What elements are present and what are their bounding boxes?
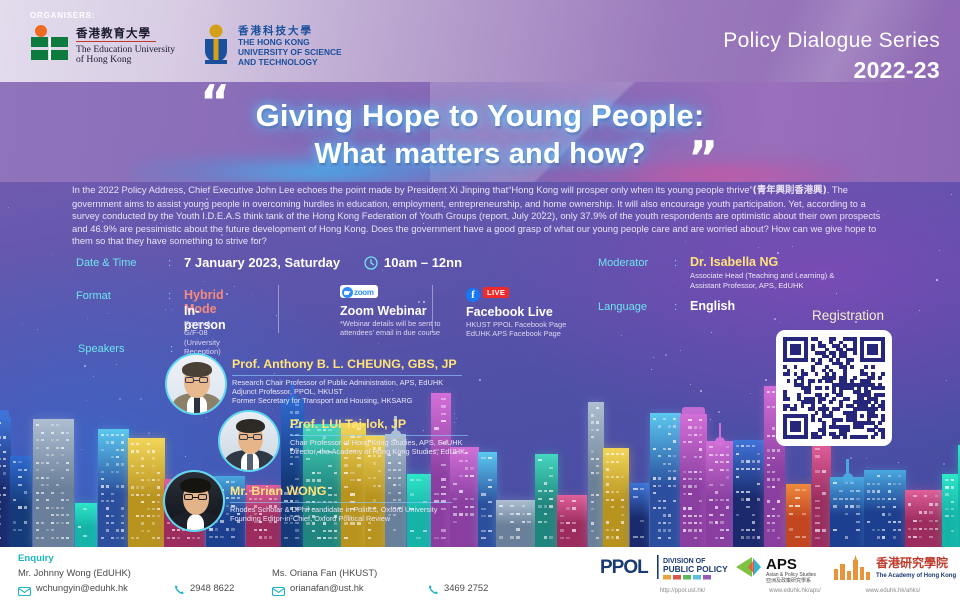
organisers-label: ORGANISERS: xyxy=(30,11,95,20)
speaker-3-avatar xyxy=(163,470,225,532)
speaker-2-desc-line1: Chair Professor of Hong Kong Studies, AP… xyxy=(290,438,463,447)
svg-text:The Academy of Hong Kong Studi: The Academy of Hong Kong Studies xyxy=(876,573,956,579)
main-title-line2: What matters and how? xyxy=(0,138,960,171)
footer-bar: Enquiry Mr. Johnny Wong (EdUHK) wchungyi… xyxy=(0,547,960,600)
moderator-name: Dr. Isabella NG xyxy=(690,255,778,269)
language-label: Language xyxy=(598,301,670,313)
abstract-chinese: (青年興則香港興) xyxy=(753,185,827,196)
speakers-label: Speakers xyxy=(78,343,124,355)
svg-text:香港研究學院: 香港研究學院 xyxy=(875,555,948,570)
speaker-1-rule xyxy=(232,375,462,376)
svg-text:APS: APS xyxy=(766,556,797,573)
zoom-note: *Webinar details will be sent to attende… xyxy=(340,319,441,337)
svg-text:of Hong Kong: of Hong Kong xyxy=(76,54,132,65)
svg-text:PPOL: PPOL xyxy=(600,557,649,578)
venue-line1: Room A-G/F-08 (University Reception) xyxy=(184,319,222,357)
moderator-affiliation: Associate Head (Teaching and Learning) &… xyxy=(690,271,834,290)
format-divider-1 xyxy=(278,285,279,333)
speaker-2-avatar xyxy=(218,410,280,472)
language-colon: : xyxy=(674,301,677,313)
svg-text:PUBLIC POLICY: PUBLIC POLICY xyxy=(663,564,728,574)
contact-1-name: Mr. Johnny Wong (EdUHK) xyxy=(18,567,131,578)
facebook-title: Facebook Live xyxy=(466,305,566,319)
envelope-icon xyxy=(18,583,31,592)
phone-icon xyxy=(174,582,185,593)
main-title-line1: Giving Hope to Young People: xyxy=(0,98,960,134)
datetime-label: Date & Time xyxy=(76,257,164,269)
facebook-note: HKUST PPOL Facebook Page EdUHK APS Faceb… xyxy=(466,320,566,338)
poster-root: ORGANISERS: 香港教育大學 The Education Univers… xyxy=(0,0,960,600)
enquiry-title: Enquiry xyxy=(18,553,54,564)
format-label: Format xyxy=(76,290,164,302)
contact-1-phone: 2948 8622 xyxy=(190,582,234,593)
speaker-3-name: Mr. Brian WONG xyxy=(230,484,326,498)
speaker-3-desc-line1: Rhodes Scholar & DPhil candidate in Poli… xyxy=(230,505,437,514)
speaker-1-desc-line2: Adjunct Professor, PPOL, HKUST xyxy=(232,387,343,396)
speaker-2-desc-line2: Director, the Academy of Hong Kong Studi… xyxy=(290,447,465,456)
phone-icon xyxy=(428,582,439,593)
facebook-icon: f xyxy=(466,288,480,302)
zoom-note-line2: attendees' email in due course xyxy=(340,328,441,337)
closing-quote-mark: ” xyxy=(688,140,718,177)
series-year: 2022-23 xyxy=(853,57,940,84)
registration-qr-code[interactable] xyxy=(776,330,892,446)
format-colon: : xyxy=(168,290,171,302)
zoom-note-line1: *Webinar details will be sent to xyxy=(340,319,441,328)
datetime-colon: : xyxy=(168,257,171,269)
registration-label: Registration xyxy=(788,308,908,323)
facebook-logo-row: fLIVE xyxy=(466,283,566,302)
eduhk-logo: 香港教育大學 The Education University of Hong … xyxy=(28,24,203,66)
speaker-1-avatar xyxy=(165,353,227,415)
moderator-affiliation-line2: Assistant Professor, APS, EdUHK xyxy=(690,281,834,291)
speakers-colon: : xyxy=(170,343,173,355)
speaker-1-desc-line3: Former Secretary for Transport and Housi… xyxy=(232,396,412,405)
contact-2-phone: 3469 2752 xyxy=(444,582,488,593)
contact-2-name: Ms. Oriana Fan (HKUST) xyxy=(272,567,377,578)
speaker-1-desc-line1: Research Chair Professor of Public Admin… xyxy=(232,378,443,387)
abstract-part1: In the 2022 Policy Address, Chief Execut… xyxy=(72,184,753,195)
main-title: Giving Hope to Young People: What matter… xyxy=(0,98,960,171)
svg-text:香港教育大學: 香港教育大學 xyxy=(75,26,151,40)
zoom-webinar-block: zoom Zoom Webinar *Webinar details will … xyxy=(340,283,441,337)
speaker-3-desc-line2: Founding Editor-in-Chief, Oxford Politic… xyxy=(230,514,390,523)
speaker-3-rule xyxy=(230,502,452,503)
facebook-note-line1: HKUST PPOL Facebook Page xyxy=(466,320,566,329)
ahks-url[interactable]: www.eduhk.hk/ahks/ xyxy=(830,588,956,594)
moderator-affiliation-line1: Associate Head (Teaching and Learning) & xyxy=(690,271,834,281)
zoom-title: Zoom Webinar xyxy=(340,304,441,318)
moderator-colon: : xyxy=(674,257,677,269)
contact-1-email[interactable]: wchungyin@eduhk.hk xyxy=(36,582,128,593)
moderator-label: Moderator xyxy=(598,257,670,269)
speaker-2-rule xyxy=(290,435,468,436)
series-title: Policy Dialogue Series xyxy=(723,29,940,53)
hkust-logo: 香港科技大學 THE HONG KONG UNIVERSITY OF SCIEN… xyxy=(196,22,371,68)
clock-icon xyxy=(364,256,378,270)
speaker-1-name: Prof. Anthony B. L. CHEUNG, GBS, JP xyxy=(232,357,457,371)
svg-text:THE HONG KONG: THE HONG KONG xyxy=(238,37,310,47)
zoom-wordmark: zoom xyxy=(354,287,374,298)
speaker-2-name: Prof. LUI Tai-lok, JP xyxy=(290,417,406,431)
svg-text:亞洲及政策研究學系: 亞洲及政策研究學系 xyxy=(766,577,811,584)
qr-canvas xyxy=(783,337,885,439)
language-value: English xyxy=(690,299,735,313)
event-date: 7 January 2023, Saturday xyxy=(184,255,340,270)
ahks-logo: 香港研究學院 The Academy of Hong Kong Studies xyxy=(830,553,956,585)
contact-2-email[interactable]: orianafan@ust.hk xyxy=(290,582,364,593)
facebook-note-line2: EdUHK APS Facebook Page xyxy=(466,329,566,338)
abstract-paragraph: In the 2022 Policy Address, Chief Execut… xyxy=(72,184,890,248)
svg-text:AND TECHNOLOGY: AND TECHNOLOGY xyxy=(238,57,318,67)
svg-text:UNIVERSITY OF SCIENCE: UNIVERSITY OF SCIENCE xyxy=(238,47,342,57)
live-badge: LIVE xyxy=(483,287,509,298)
event-time: 10am – 12nn xyxy=(384,255,462,270)
zoom-logo: zoom xyxy=(340,285,378,298)
svg-text:香港科技大學: 香港科技大學 xyxy=(237,24,313,37)
video-camera-icon xyxy=(342,287,353,298)
facebook-live-block: fLIVE Facebook Live HKUST PPOL Facebook … xyxy=(466,283,566,338)
envelope-icon xyxy=(272,583,285,592)
